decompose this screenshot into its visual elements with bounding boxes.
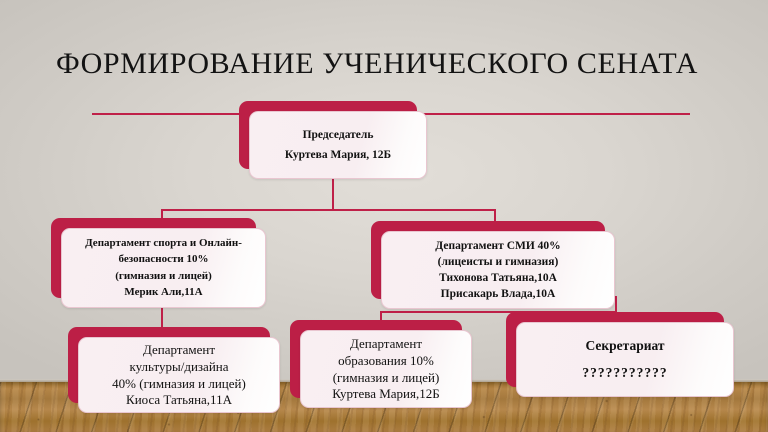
org-node-sports-department[interactable]: Департамент спорта и Онлайн- безопасност… [51,218,266,308]
connector-level1-bus [161,209,496,211]
culture-line-1: Департамент [143,342,215,358]
media-line-3: Тихонова Татьяна,10А [439,271,557,285]
org-node-chairman[interactable]: Председатель Куртева Мария, 12Б [239,101,427,179]
chairman-person: Куртева Мария, 12Б [285,148,391,162]
secretariat-title: Секретариат [585,338,664,354]
card-face: Департамент образования 10% (гимназия и … [300,330,472,408]
sports-line-3: (гимназия и лицей) [115,270,212,283]
education-line-2: образования 10% [338,353,434,369]
sports-line-1: Департамент спорта и Онлайн- [85,237,242,250]
culture-line-2: культуры/дизайна [130,359,229,375]
card-face: Секретариат ??????????? [516,322,734,397]
chairman-role: Председатель [303,128,374,142]
sports-line-2: безопасности 10% [118,253,208,266]
org-node-media-department[interactable]: Департамент СМИ 40% (лицеисты и гимназия… [371,221,615,309]
media-line-2: (лицеисты и гимназия) [438,255,559,269]
education-line-1: Департамент [350,336,422,352]
connector-sports-to-culture [161,308,163,328]
presentation-slide: ФОРМИРОВАНИЕ УЧЕНИЧЕСКОГО СЕНАТА Председ… [0,0,768,432]
education-line-3: (гимназия и лицей) [333,370,440,386]
org-node-culture-department[interactable]: Департамент культуры/дизайна 40% (гимназ… [68,327,280,413]
connector-chairman-stem [332,179,334,210]
card-face: Департамент культуры/дизайна 40% (гимназ… [78,337,280,413]
sports-line-4: Мерик Али,11А [124,286,202,299]
education-line-4: Куртева Мария,12Б [332,386,439,402]
culture-line-4: Киоса Татьяна,11А [126,392,232,408]
card-face: Департамент СМИ 40% (лицеисты и гимназия… [381,231,615,309]
secretariat-unknown-members: ??????????? [582,365,667,381]
card-face: Департамент спорта и Онлайн- безопасност… [61,228,266,308]
culture-line-3: 40% (гимназия и лицей) [112,376,246,392]
org-node-education-department[interactable]: Департамент образования 10% (гимназия и … [290,320,472,408]
page-title: ФОРМИРОВАНИЕ УЧЕНИЧЕСКОГО СЕНАТА [56,47,698,81]
org-node-secretariat[interactable]: Секретариат ??????????? [506,312,734,397]
media-line-4: Присакарь Влада,10А [441,287,556,301]
media-line-1: Департамент СМИ 40% [435,239,560,253]
card-face: Председатель Куртева Мария, 12Б [249,111,427,179]
